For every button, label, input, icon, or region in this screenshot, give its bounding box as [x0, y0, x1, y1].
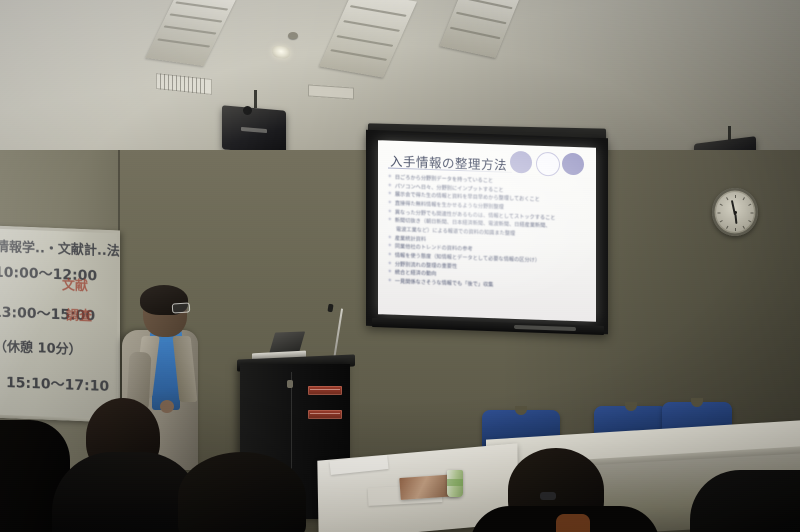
audience-head-front-center	[178, 452, 306, 532]
chair-notch	[515, 406, 527, 415]
whiteboard-glare	[0, 226, 120, 423]
slide-bullet-list: ✳ 日ごろから分野別データを持っていること ✳ パソコンへ日々、分野別にインプッ…	[388, 175, 590, 295]
warning-label-upper	[308, 386, 342, 395]
circle-outline-white-icon	[536, 152, 560, 177]
bullet-text: 統合と経済の動向	[395, 270, 437, 278]
bullet-text: 一見関係なさそうな情報でも「後で」収集	[395, 279, 494, 289]
bullet-text: 同業他社のトレンドの資料の参考	[395, 244, 473, 253]
bullet-marker-icon: ✳	[388, 175, 392, 181]
bullet-marker-icon: ✳	[388, 252, 392, 258]
clock-hour-hand	[734, 214, 737, 224]
bullet-marker-icon: ✳	[388, 218, 392, 224]
circle-filled-lavender-icon	[510, 151, 532, 174]
clock-center-pin	[734, 211, 737, 214]
green-cup	[447, 470, 463, 497]
circle-filled-violet-icon	[562, 153, 584, 176]
cup-band	[447, 479, 463, 486]
bullet-marker-icon: ✳	[388, 183, 392, 189]
chair-notch	[691, 398, 702, 407]
presenter-hand	[160, 400, 174, 413]
bullet-marker-icon: ✳	[388, 201, 392, 207]
bullet-marker-icon: ✳	[388, 192, 392, 198]
clock-face	[716, 192, 754, 232]
bullet-text: 産業統計資料	[395, 235, 426, 243]
bullet-marker-icon: ✳	[388, 270, 392, 276]
bullet-marker-icon: ✳	[388, 261, 392, 267]
whiteboard: 情報学..・文献計..法 10:00〜12:00 13:00〜15:00 （休憩…	[0, 226, 120, 423]
podium-lock-icon[interactable]	[287, 380, 293, 388]
warning-label-lower	[308, 410, 342, 419]
classroom-photo-scene: 情報学..・文献計..法 10:00〜12:00 13:00〜15:00 （休憩…	[0, 0, 800, 532]
bullet-marker-icon: ✳	[388, 235, 392, 241]
bullet-text: 分野別流れの整理の重要性	[395, 261, 457, 270]
bullet-marker-icon: ✳	[388, 244, 392, 250]
slide-surface: 入手情報の整理方法 ✳ 日ごろから分野別データを持っていること ✳ パソコンへ日…	[378, 140, 596, 322]
hair-clip-icon	[540, 492, 556, 500]
wall-clock	[712, 188, 758, 236]
chair-notch	[625, 402, 637, 411]
audience-collar-orange	[556, 514, 590, 532]
bullet-marker-icon: ✳	[388, 209, 392, 215]
bullet-marker-icon: ✳	[388, 278, 392, 284]
glasses-icon	[172, 302, 191, 313]
